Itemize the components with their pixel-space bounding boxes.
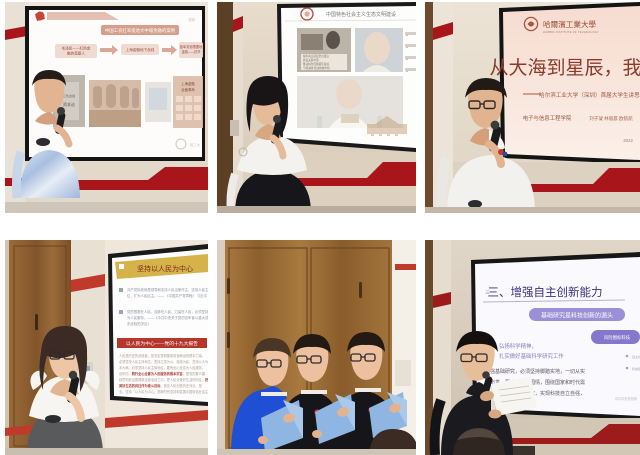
svg-text:中共中央党校网: 中共中央党校网 — [615, 396, 637, 401]
svg-text:从大海到星辰，我们: 从大海到星辰，我们 — [489, 57, 640, 79]
svg-text:上海金融地下战线: 上海金融地下战线 — [126, 47, 155, 52]
svg-text:以人民为中心——党的十九大报告: 以人民为中心——党的十九大报告 — [126, 340, 198, 347]
svg-text:资本论: 资本论 — [63, 101, 75, 107]
photo-panel-1: 中国工农红军挺进大中城金融的案例 毛泽民——红色金 融的奠基人 上海金融地下战线… — [5, 2, 208, 213]
svg-text:2022: 2022 — [623, 138, 633, 143]
svg-text:自主创新: 自主创新 — [632, 354, 640, 359]
svg-text:弘扬科学精神，: 弘扬科学精神， — [499, 342, 537, 350]
photo-panel-6: 三 三、增强自主创新能力 基础研究是科技创新的源头 风险图标科技 弘扬科学精神，… — [425, 240, 640, 455]
svg-text:金融——抗币: 金融——抗币 — [181, 49, 200, 54]
svg-text:绿水青山就是金山银山: 绿水青山就是金山银山 — [303, 54, 329, 58]
svg-text:推动绿色低碳循环发展: 推动绿色低碳循环发展 — [303, 62, 329, 66]
svg-text:科技强国: 科技强国 — [632, 366, 640, 371]
svg-text:全面革命: 全面革命 — [181, 87, 195, 92]
svg-text:毛泽民——红色金: 毛泽民——红色金 — [62, 46, 91, 51]
svg-text:融的奠基人: 融的奠基人 — [67, 51, 85, 56]
svg-text:党的根基在人民、血脉在人民、力量在人民，必须坚持全心全意: 党的根基在人民、血脉在人民、力量在人民，必须坚持全心全意 — [127, 309, 208, 314]
svg-text:共产党执政就是领导和支持人民当家作主，坚持人民主体地: 共产党执政就是领导和支持人民当家作主，坚持人民主体地 — [127, 287, 208, 292]
svg-text:业。坚持「以人民为中心」是新时代坚持和发展中国特色社会主: 业。坚持「以人民为中心」是新时代坚持和发展中国特色社会主 — [119, 389, 208, 394]
svg-text:人民是历史的创造者，是决定党和国家前途命运的根本力量。: 人民是历史的创造者，是决定党和国家前途命运的根本力量。 — [119, 353, 205, 358]
svg-text:百年历。践行全心全意为人民服务的根本宗旨，把党的群众路: 百年历。践行全心全意为人民服务的根本宗旨，把党的群众路 — [119, 371, 206, 376]
svg-text:基础研究是科技创新的源头: 基础研究是科技创新的源头 — [541, 312, 613, 320]
photo-panel-4: 坚持以人民为中心 共产党执政就是领导和支持人民当家作主，坚持人民主体地 位，扩大… — [5, 240, 208, 455]
svg-text:红色金融: 红色金融 — [63, 93, 75, 98]
svg-text:HARBIN INSTITUTE OF TECHNOLOGY: HARBIN INSTITUTE OF TECHNOLOGY — [543, 30, 599, 34]
svg-text:必须坚持人民主体地位，坚持立党为公、执政为民，坚持以人为: 必须坚持人民主体地位，坚持立党为公、执政为民，坚持以人为 — [119, 359, 208, 364]
svg-text:中国特色社会主义生态文明建设: 中国特色社会主义生态文明建设 — [326, 11, 396, 18]
svg-text:中国工农红军挺进大中城金融的案例: 中国工农红军挺进大中城金融的案例 — [105, 27, 176, 34]
svg-text:节能减排 碳达峰碳中和: 节能减排 碳达峰碳中和 — [303, 66, 330, 70]
svg-text:哈尔滨工业大学（深圳）首届大学生讲思政课: 哈尔滨工业大学（深圳）首届大学生讲思政课 — [539, 91, 640, 99]
photo-collage: 中国工农红军挺进大中城金融的案例 毛泽民——红色金 融的奠基人 上海金融地下战线… — [0, 0, 640, 455]
svg-text:位，扩大人民民主。—— 《中国共产党章程》 习近平 总书记: 位，扩大人民民主。—— 《中国共产党章程》 习近平 总书记 — [127, 293, 208, 298]
svg-text:电子与信息工程学院: 电子与信息工程学院 — [523, 114, 572, 122]
photo-panel-3: 哈爾濱工業大學 HARBIN INSTITUTE OF TECHNOLOGY 从… — [425, 2, 640, 213]
svg-text:为人民服务。——《中共中央关于党的百年奋斗重大成就和历: 为人民服务。——《中共中央关于党的百年奋斗重大成就和历 — [127, 315, 208, 320]
svg-text:史经验的决议》: 史经验的决议》 — [127, 321, 151, 326]
svg-text:三、增强自主创新能力: 三、增强自主创新能力 — [488, 285, 603, 299]
svg-text:视频: 视频 — [188, 17, 195, 22]
svg-text:坚持以人民为中心: 坚持以人民为中心 — [137, 264, 193, 273]
svg-text:敌军封锁根据地: 敌军封锁根据地 — [180, 44, 203, 49]
svg-text:哈爾濱工業大學: 哈爾濱工業大學 — [543, 19, 597, 29]
svg-text:哈工大: 哈工大 — [190, 142, 201, 147]
svg-text:上海金融: 上海金融 — [181, 81, 195, 86]
svg-text:本大局。必须坚持人民主体地位，要有全心全意为人民服务。: 本大局。必须坚持人民主体地位，要有全心全意为人民服务。 — [119, 365, 205, 370]
photo-panel-2: 中国特色社会主义生态文明建设 绿水青山就是金山银山 建设美丽中国 推动绿色低碳循… — [217, 2, 416, 213]
svg-text:风险图标科技: 风险图标科技 — [604, 334, 631, 341]
svg-text:美好生活的向往作为奋斗目标，依靠人民创造历史伟业。是: 美好生活的向往作为奋斗目标，依靠人民创造历史伟业。是 — [118, 383, 203, 388]
svg-text:加强基础研究，必须坚持脚踏实地，一切从实: 加强基础研究，必须坚持脚踏实地，一切从实 — [485, 368, 585, 375]
svg-text:线贯彻到治国理政全部活动之中，把人民对美好生活的向往，把: 线贯彻到治国理政全部活动之中，把人民对美好生活的向往，把 — [119, 377, 208, 382]
svg-text:建设美丽中国: 建设美丽中国 — [303, 58, 319, 62]
svg-text:刘子凝 林丽晨 欧航航: 刘子凝 林丽晨 欧航航 — [589, 115, 633, 122]
svg-text:扎实做好基础科学研究工作: 扎实做好基础科学研究工作 — [499, 352, 564, 360]
photo-panel-5 — [217, 240, 416, 455]
